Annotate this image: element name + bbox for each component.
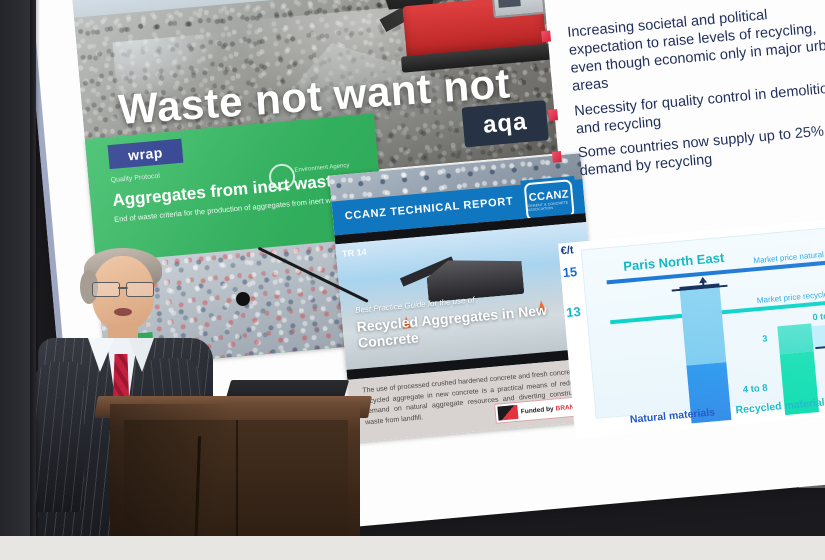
glasses-lens-left [92, 282, 120, 297]
bullet-marker-icon [541, 30, 551, 42]
wrap-logo-label: wrap [127, 144, 163, 163]
branz-prefix: Funded by [521, 405, 554, 415]
photo-scene: where Economic Waste not want not [0, 0, 825, 560]
bar-recycled-upper [777, 323, 813, 354]
annotation-3: 3 [762, 333, 768, 343]
annotation-4-to-8: 4 to 8 [742, 383, 768, 396]
aqa-badge: aqa [462, 100, 549, 147]
speaker-mouth [114, 308, 132, 316]
bullet-text: Increasing societal and political expect… [567, 0, 825, 96]
chart-plot-area: Paris North East Market price natural ma… [581, 225, 825, 419]
floor [0, 536, 825, 560]
wrap-logo: wrap [108, 139, 184, 169]
glasses-lens-right [126, 282, 154, 297]
paris-north-east-chart: €/t 15 13 Paris North East Market price … [558, 216, 825, 439]
bullet-marker-icon [552, 151, 562, 163]
seal-circle-icon [268, 163, 296, 191]
cab-window [497, 0, 521, 8]
chart-tick-13: 13 [566, 304, 582, 320]
chart-y-unit: €/t [560, 244, 574, 257]
chart-tick-15: 15 [562, 264, 578, 280]
seal-label: Environment Agency [294, 163, 349, 174]
bullet-marker-icon [548, 109, 558, 121]
branz-logo-icon [497, 405, 518, 421]
left-wall-shadow [30, 0, 40, 560]
slide-bullet-list: Increasing societal and political expect… [541, 0, 825, 189]
microphone-head-icon [236, 292, 250, 306]
speaker-glasses-icon [90, 282, 156, 295]
annotation-0-to-5: 0 to 5 [812, 310, 825, 322]
wrap-kicker: Quality Protocol [110, 173, 160, 184]
aqa-badge-label: aqa [482, 108, 529, 140]
bar-natural-upper [680, 286, 727, 365]
